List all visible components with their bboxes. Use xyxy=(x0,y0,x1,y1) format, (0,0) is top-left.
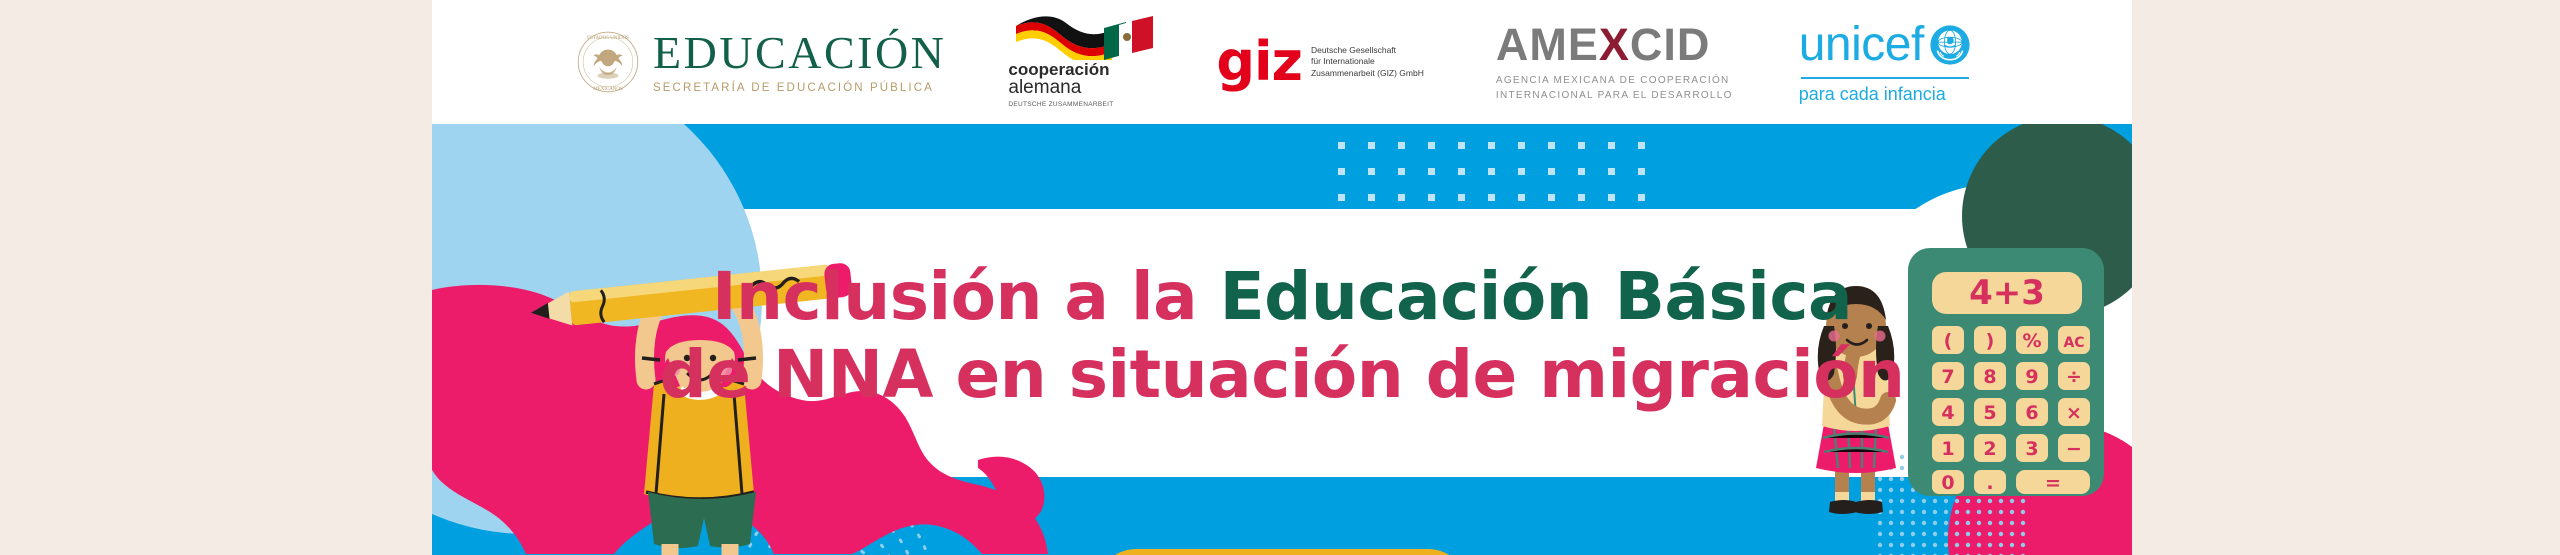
amexcid-subtitle-line2: INTERNACIONAL PARA EL DESARROLLO xyxy=(1496,88,1733,103)
sep-title: EDUCACIÓN xyxy=(653,30,946,76)
giz-description: Deutsche Gesellschaft für Internationale… xyxy=(1311,45,1424,79)
giz-wordmark: giz xyxy=(1216,40,1302,83)
partner-logo-strip: ESTADOS UNIDOS MEXICANOS EDUCACIÓN SECRE… xyxy=(432,0,2132,124)
un-globe-laurel-icon xyxy=(1929,24,1971,66)
unicef-logo: unicef para cada infancia xyxy=(1799,0,1971,124)
svg-text:3: 3 xyxy=(2025,438,2038,460)
mexican-coat-of-arms-icon: ESTADOS UNIDOS MEXICANOS xyxy=(577,31,639,93)
decor-dot-grid xyxy=(1332,136,1652,208)
giz-line3: Zusammenarbeit (GIZ) GmbH xyxy=(1311,68,1424,79)
giz-line1: Deutsche Gesellschaft xyxy=(1311,45,1424,56)
amexcid-part1: AME xyxy=(1496,19,1599,70)
amexcid-subtitle: AGENCIA MEXICANA DE COOPERACIÓN INTERNAC… xyxy=(1496,73,1733,103)
coop-line1: cooperación xyxy=(1008,61,1109,79)
svg-text:1: 1 xyxy=(1941,438,1954,460)
svg-text:−: − xyxy=(2066,438,2082,460)
amexcid-subtitle-line1: AGENCIA MEXICANA DE COOPERACIÓN xyxy=(1496,73,1733,88)
coop-line2: alemana xyxy=(1008,78,1081,98)
cooperacion-alemana-logo: cooperación alemana DEUTSCHE ZUSAMMENARB… xyxy=(1008,0,1158,124)
sep-subtitle: SECRETARÍA DE EDUCACIÓN PÚBLICA xyxy=(653,83,946,95)
unicef-wordmark-row: unicef xyxy=(1799,21,1971,69)
giz-logo: giz Deutsche Gesellschaft für Internatio… xyxy=(1216,0,1423,124)
german-mexican-flags-ribbon-icon xyxy=(1008,16,1158,60)
page-title: Inclusión a la Educación Básica de NNA e… xyxy=(432,258,2132,414)
unicef-tagline: para cada infancia xyxy=(1799,85,1946,103)
banner-root: ESTADOS UNIDOS MEXICANOS EDUCACIÓN SECRE… xyxy=(0,0,2560,555)
amexcid-part2: CID xyxy=(1630,19,1711,70)
title-line-2: de NNA en situación de migración xyxy=(432,336,2132,414)
svg-text:.: . xyxy=(1986,472,1993,494)
hero-banner: Inclusión a la Educación Básica de NNA e… xyxy=(432,124,2132,555)
giz-line2: für Internationale xyxy=(1311,56,1424,67)
infografias-button[interactable]: Infografías xyxy=(1096,549,1468,555)
coop-line3: DEUTSCHE ZUSAMMENARBEIT xyxy=(1008,101,1113,108)
svg-text:=: = xyxy=(2045,472,2061,494)
amexcid-x: X xyxy=(1599,19,1630,70)
amexcid-wordmark: AMEXCID xyxy=(1496,22,1711,67)
svg-text:ESTADOS UNIDOS: ESTADOS UNIDOS xyxy=(587,36,629,41)
svg-text:2: 2 xyxy=(1983,438,1996,460)
title-line-1: Inclusión a la Educación Básica xyxy=(432,258,2132,336)
svg-text:MEXICANOS: MEXICANOS xyxy=(593,87,623,92)
title-line-1-pink: Inclusión a la xyxy=(712,258,1220,335)
amexcid-logo: AMEXCID AGENCIA MEXICANA DE COOPERACIÓN … xyxy=(1496,0,1733,124)
unicef-wordmark: unicef xyxy=(1799,21,1924,69)
unicef-divider xyxy=(1801,77,1969,79)
educacion-sep-logo: ESTADOS UNIDOS MEXICANOS EDUCACIÓN SECRE… xyxy=(577,0,946,124)
svg-text:0: 0 xyxy=(1941,472,1954,494)
title-line-1-green: Educación Básica xyxy=(1220,258,1852,335)
